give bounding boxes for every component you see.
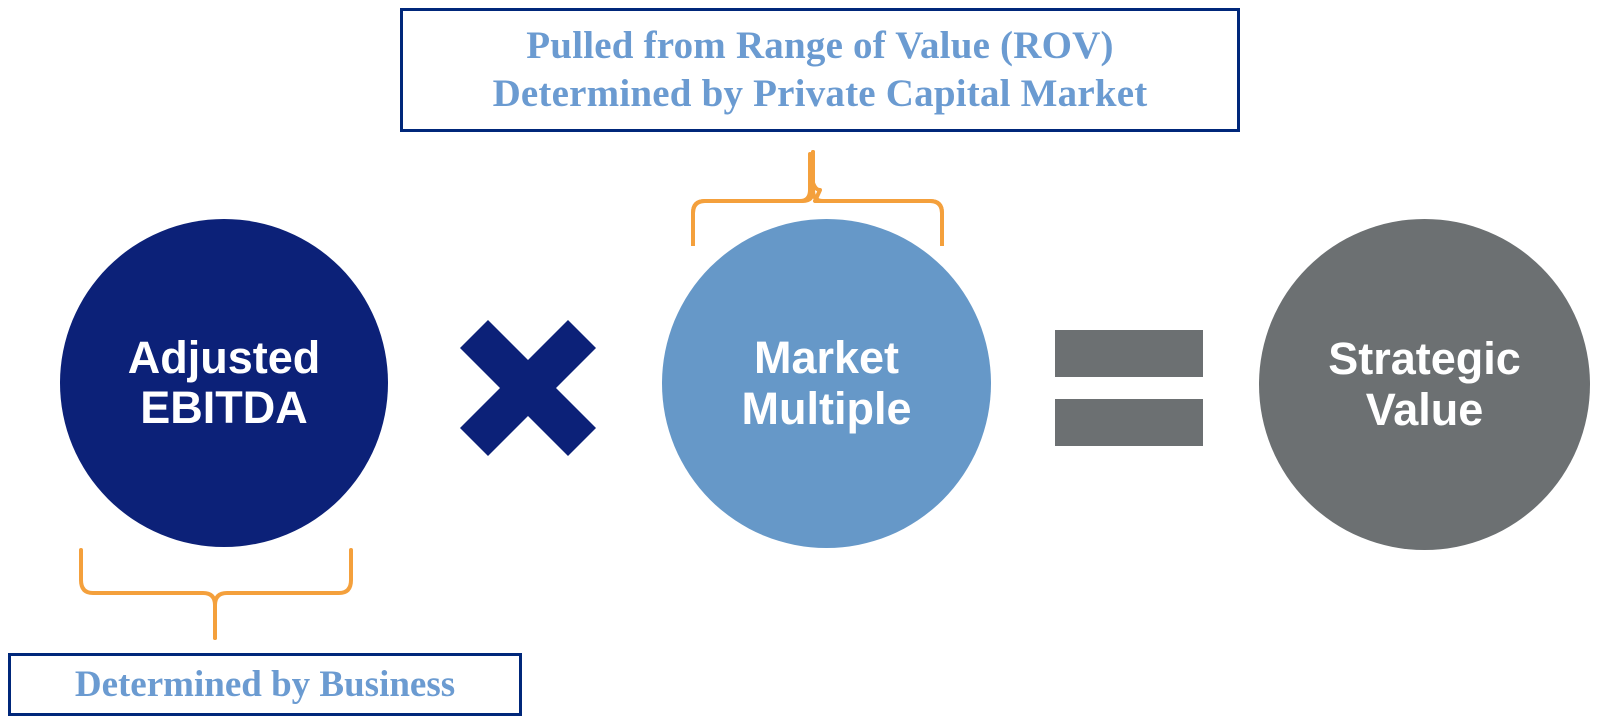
bubble-adjusted-ebitda-line-2: EBITDA (140, 383, 308, 433)
callout-box-bottom: Determined by Business (8, 653, 522, 716)
bubble-market-multiple-line-2: Multiple (742, 384, 912, 434)
callout-top-line-2: Determined by Private Capital Market (493, 70, 1148, 118)
bubble-strategic-value-line-2: Value (1366, 385, 1484, 435)
callout-top-line-1: Pulled from Range of Value (ROV) (526, 22, 1113, 70)
callout-bottom-line-1: Determined by Business (75, 662, 455, 707)
equals-icon (1053, 325, 1205, 451)
diagram-canvas: Pulled from Range of Value (ROV) Determi… (0, 0, 1610, 727)
bubble-market-multiple[interactable]: Market Multiple (662, 219, 991, 548)
bubble-market-multiple-line-1: Market (754, 333, 899, 383)
bubble-adjusted-ebitda[interactable]: Adjusted EBITDA (60, 219, 388, 547)
equals-bar-top (1055, 330, 1203, 377)
curly-brace-up-icon (55, 548, 377, 640)
equals-bar-bottom (1055, 399, 1203, 446)
callout-box-top: Pulled from Range of Value (ROV) Determi… (400, 8, 1240, 132)
multiply-icon (452, 312, 604, 464)
bubble-adjusted-ebitda-line-1: Adjusted (128, 333, 321, 383)
bubble-strategic-value[interactable]: Strategic Value (1259, 219, 1590, 550)
bubble-strategic-value-line-1: Strategic (1328, 334, 1521, 384)
